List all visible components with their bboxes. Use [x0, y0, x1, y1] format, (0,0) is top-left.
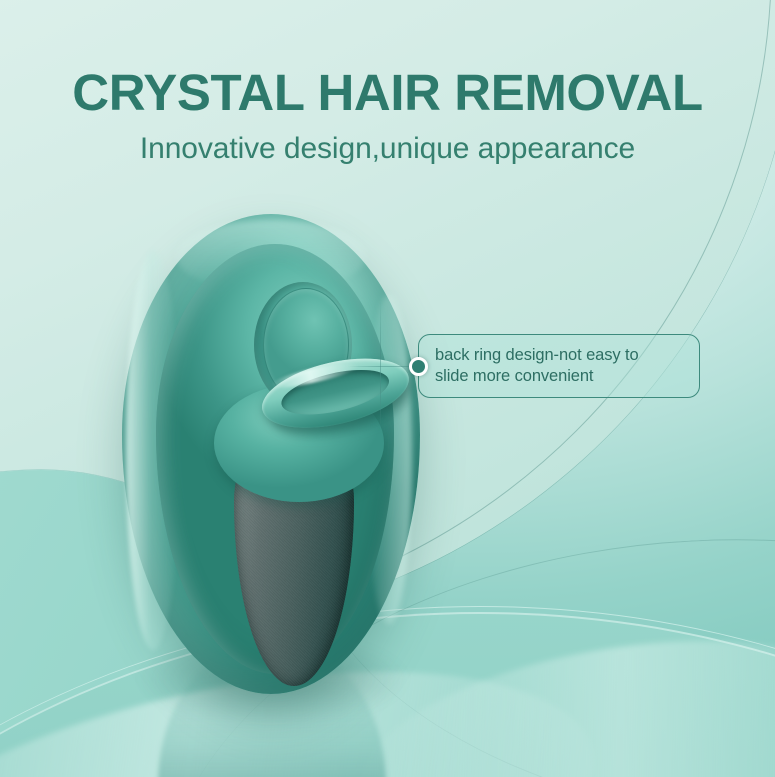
feature-callout-text: back ring design-not easy to slide more …: [435, 345, 639, 387]
feature-callout: back ring design-not easy to slide more …: [418, 334, 700, 398]
callout-line-2: slide more convenient: [435, 367, 593, 385]
page-title: CRYSTAL HAIR REMOVAL: [0, 63, 775, 122]
product-image: [122, 214, 420, 706]
hotspot-dot-icon: [409, 357, 428, 376]
page-subtitle: Innovative design,unique appearance: [0, 132, 775, 166]
callout-line-1: back ring design-not easy to: [435, 346, 639, 364]
product-banner: CRYSTAL HAIR REMOVAL Innovative design,u…: [0, 0, 775, 777]
